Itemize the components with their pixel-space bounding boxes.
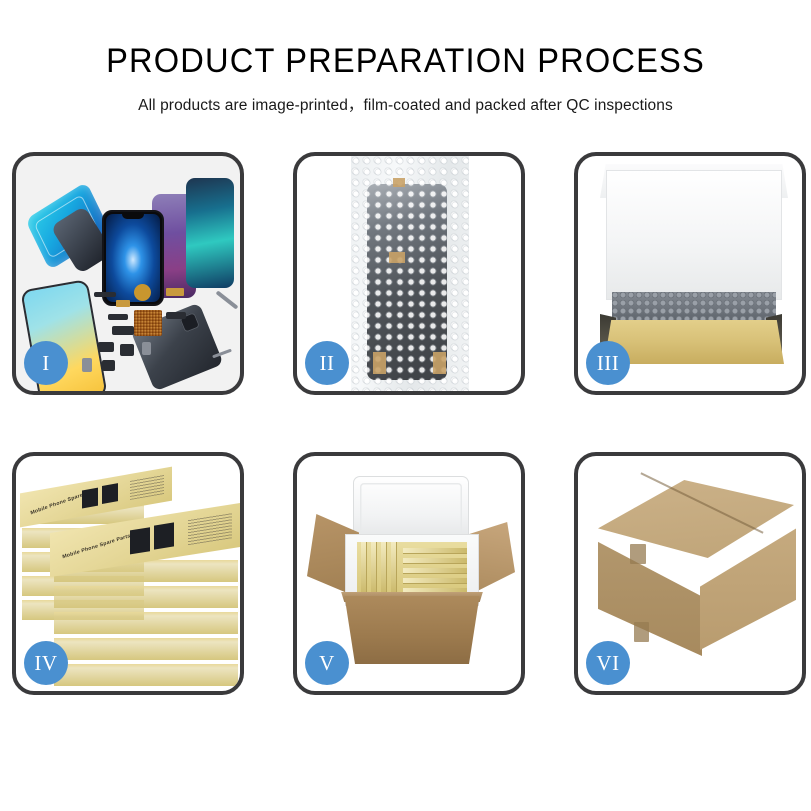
page-subtitle: All products are image-printed，film-coat… [0,78,811,115]
retail-box-front-2 [54,586,238,608]
packed-box-column-4 [391,542,396,594]
box-photo-front-1 [130,527,150,554]
carton-tape-lower [634,622,649,642]
connector-part-1 [108,314,128,320]
packed-yellow-boxes [357,542,467,594]
process-step-panel-2: II [293,152,525,395]
process-step-panel-1: I [12,152,244,395]
page-title: PRODUCT PREPARATION PROCESS [16,44,795,78]
process-step-panel-5: V [293,452,525,695]
process-step-panel-4: Mobile Phone Spare Parts Mobile Phone Sp… [12,452,244,695]
retail-box-front-4 [54,638,238,660]
carton-front-panel [337,596,487,664]
box-spec-lines-front [188,512,232,545]
packed-box-column-1 [361,542,366,594]
sim-tray-part [82,358,92,372]
retail-box-front-5 [54,664,238,686]
retail-box-label-front: Mobile Phone Spare Parts [62,533,131,560]
carton-tape-upper [630,544,646,564]
teal-phone [186,178,234,288]
step-badge-4: IV [24,641,68,685]
step-badge-6: VI [586,641,630,685]
home-button-part [102,360,115,371]
packed-box-column-3 [381,542,386,594]
box-lid-inner-face [606,170,782,300]
packed-box-row-4 [403,578,467,583]
tweezers-tool [216,290,239,309]
connector-part-2 [112,326,134,335]
speaker-mesh-part [94,292,116,297]
box-photo-rear-2 [102,483,118,504]
process-step-panel-3: III [574,152,806,395]
connector-part-3 [166,312,186,319]
tape-piece-middle [389,252,405,263]
retail-box-front-3 [54,612,238,634]
process-step-grid: I II III [12,152,799,695]
vibrator-part [120,344,134,356]
carton-top-face [598,480,794,558]
bubble-wrap-overlay [351,156,469,391]
step-badge-2: II [305,341,349,385]
packed-box-row-2 [403,558,467,563]
header: PRODUCT PREPARATION PROCESS All products… [0,0,811,115]
step-badge-1: I [24,341,68,385]
box-photo-rear-1 [82,488,98,509]
tape-piece-top [393,178,405,187]
box-spec-lines-rear [130,474,164,500]
box-front-panel [604,320,784,364]
packed-box-row-3 [403,568,467,573]
step-badge-3: III [586,341,630,385]
gold-coil-part [134,284,151,301]
battery-connector-part [142,342,151,355]
bubble-wrap-contents [612,292,776,322]
flex-cable-part-2 [116,300,130,307]
process-step-panel-6: VI [574,452,806,695]
box-photo-front-2 [154,522,174,549]
flex-cable-part-1 [166,288,184,296]
packed-box-column-2 [371,542,376,594]
copper-mesh-part [134,310,162,336]
step-badge-5: V [305,641,349,685]
tape-piece-bottom-left [373,352,386,374]
packed-box-row-1 [403,548,467,553]
tape-piece-bottom-right [433,352,446,374]
foam-box-lid [353,476,469,542]
camera-module-part [98,342,114,352]
